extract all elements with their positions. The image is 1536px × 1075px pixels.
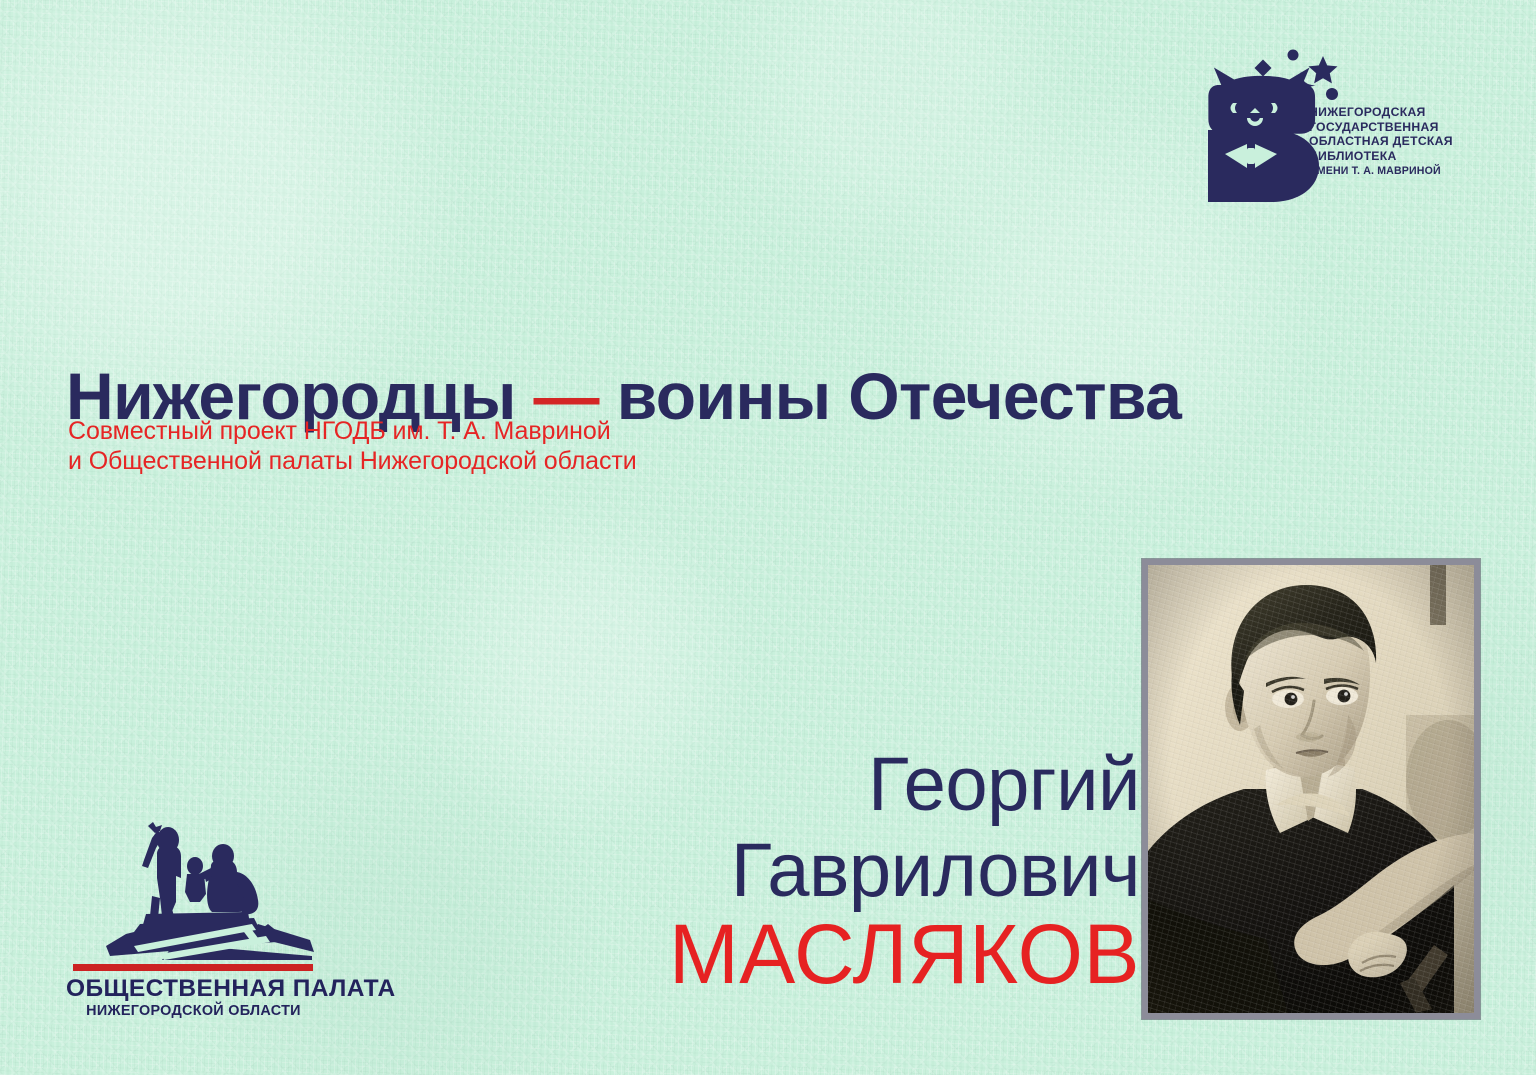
chamber-logo-title: ОБЩЕСТВЕННАЯ ПАЛАТА — [66, 975, 321, 1002]
person-patronymic: Гаврилович — [669, 828, 1140, 914]
person-given-name: Георгий — [669, 742, 1140, 828]
chamber-logo-red-rule — [73, 964, 313, 971]
library-logo-line-2: ГОСУДАРСТВЕННАЯ — [1309, 120, 1499, 135]
library-logo-wordmark: НИЖЕГОРОДСКАЯ ГОСУДАРСТВЕННАЯ ОБЛАСТНАЯ … — [1309, 105, 1499, 178]
library-logo-dedication: ИМЕНИ Т. А. МАВРИНОЙ — [1309, 164, 1499, 178]
person-name: Георгий Гаврилович МАСЛЯКОВ — [669, 742, 1140, 1000]
library-logo-line-3: ОБЛАСТНАЯ ДЕТСКАЯ — [1309, 134, 1499, 149]
portrait-photo: Портрет молодого человека, чёрно-белая ф… — [1148, 565, 1474, 1013]
presentation-slide: НИЖЕГОРОДСКАЯ ГОСУДАРСТВЕННАЯ ОБЛАСТНАЯ … — [0, 0, 1536, 1075]
subtitle: Совместный проект НГОДБ им. Т. А. Маврин… — [68, 416, 637, 476]
subtitle-line-1: Совместный проект НГОДБ им. Т. А. Маврин… — [68, 416, 637, 446]
library-logo-line-4: БИБЛИОТЕКА — [1309, 149, 1499, 164]
public-chamber-logo: ОБЩЕСТВЕННАЯ ПАЛАТА НИЖЕГОРОДСКОЙ ОБЛАСТ… — [66, 812, 334, 1020]
person-surname: МАСЛЯКОВ — [669, 908, 1140, 1000]
title-part-2: воины Отечества — [617, 359, 1181, 433]
library-logo: НИЖЕГОРОДСКАЯ ГОСУДАРСТВЕННАЯ ОБЛАСТНАЯ … — [1205, 46, 1495, 206]
chamber-logo-region: НИЖЕГОРОДСКОЙ ОБЛАСТИ — [66, 1003, 321, 1020]
monument-silhouette-icon — [100, 812, 318, 960]
library-logo-line-1: НИЖЕГОРОДСКАЯ — [1309, 105, 1499, 120]
subtitle-line-2: и Общественной палаты Нижегородской обла… — [68, 446, 637, 476]
portrait-frame: Портрет молодого человека, чёрно-белая ф… — [1142, 559, 1480, 1019]
